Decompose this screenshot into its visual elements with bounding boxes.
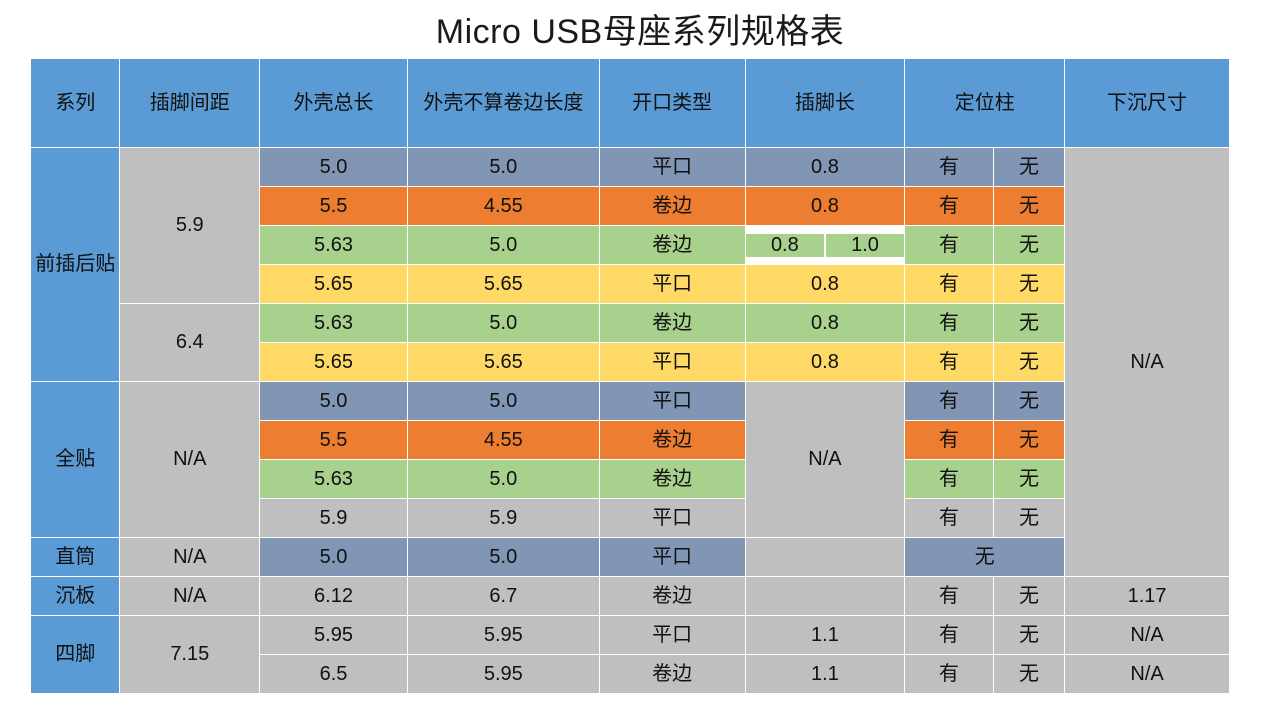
opening-type: 平口 — [600, 538, 745, 576]
post-no: 无 — [994, 460, 1064, 498]
shell-no-curl: 4.55 — [408, 187, 599, 225]
shell-no-curl: 5.0 — [408, 226, 599, 264]
post-merged-none: 无 — [905, 538, 1064, 576]
shell-total: 5.63 — [260, 304, 407, 342]
pin-length-b: 1.0 — [826, 234, 905, 257]
post-no: 无 — [994, 499, 1064, 537]
post-yes: 有 — [905, 187, 992, 225]
opening-type: 平口 — [600, 382, 745, 420]
pin-length-merged-na: N/A — [746, 382, 905, 537]
shell-no-curl: 5.65 — [408, 265, 599, 303]
shell-no-curl: 5.0 — [408, 148, 599, 186]
shell-total: 6.5 — [260, 655, 407, 693]
post-yes: 有 — [905, 343, 992, 381]
post-no: 无 — [994, 616, 1064, 654]
opening-type: 卷边 — [600, 187, 745, 225]
shell-no-curl: 4.55 — [408, 421, 599, 459]
header-shell-no-curl: 外壳不算卷边长度 — [408, 59, 599, 147]
shell-no-curl: 6.7 — [408, 577, 599, 615]
series-cell-chenban: 沉板 — [31, 577, 119, 615]
opening-type: 卷边 — [600, 577, 745, 615]
series-cell-quantie: 全贴 — [31, 382, 119, 537]
shell-no-curl: 5.0 — [408, 382, 599, 420]
pin-length-a: 0.8 — [746, 234, 825, 257]
pin-length: 1.1 — [746, 616, 905, 654]
series-cell-zhitong: 直筒 — [31, 538, 119, 576]
pitch-cell-5-9: 5.9 — [120, 148, 259, 303]
post-yes: 有 — [905, 265, 992, 303]
table-header-row: 系列 插脚间距 外壳总长 外壳不算卷边长度 开口类型 插脚长 定位柱 下沉尺寸 — [31, 59, 1229, 147]
header-opening-type: 开口类型 — [600, 59, 745, 147]
opening-type: 平口 — [600, 265, 745, 303]
pin-length: 1.1 — [746, 655, 905, 693]
shell-total: 5.95 — [260, 616, 407, 654]
pitch-cell-6-4: 6.4 — [120, 304, 259, 381]
shell-no-curl: 5.65 — [408, 343, 599, 381]
pitch-cell-na: N/A — [120, 577, 259, 615]
series-cell-sijiao: 四脚 — [31, 616, 119, 693]
shell-total: 5.9 — [260, 499, 407, 537]
shell-total: 6.12 — [260, 577, 407, 615]
post-yes: 有 — [905, 382, 992, 420]
post-yes: 有 — [905, 460, 992, 498]
table-row: 全贴 N/A 5.0 5.0 平口 N/A 有 无 — [31, 382, 1229, 420]
slide-page: Micro USB母座系列规格表 系列 插脚间距 外壳总长 外壳不算卷边长度 开… — [0, 0, 1280, 720]
opening-type: 卷边 — [600, 655, 745, 693]
post-no: 无 — [994, 382, 1064, 420]
post-no: 无 — [994, 304, 1064, 342]
header-locating-post: 定位柱 — [905, 59, 1064, 147]
pin-length: 0.8 — [746, 304, 905, 342]
page-title: Micro USB母座系列规格表 — [0, 4, 1280, 53]
table-row: 6.4 5.63 5.0 卷边 0.8 有 无 — [31, 304, 1229, 342]
opening-type: 平口 — [600, 499, 745, 537]
table-row: 前插后贴 5.9 5.0 5.0 平口 0.8 有 无 N/A — [31, 148, 1229, 186]
post-no: 无 — [994, 655, 1064, 693]
pin-length: 0.8 — [746, 148, 905, 186]
opening-type: 卷边 — [600, 460, 745, 498]
post-yes: 有 — [905, 616, 992, 654]
shell-total: 5.0 — [260, 382, 407, 420]
pin-length-empty — [746, 577, 905, 615]
shell-total: 5.63 — [260, 460, 407, 498]
opening-type: 卷边 — [600, 421, 745, 459]
table-row: 直筒 N/A 5.0 5.0 平口 无 — [31, 538, 1229, 576]
pitch-cell-na: N/A — [120, 382, 259, 537]
shell-no-curl: 5.9 — [408, 499, 599, 537]
sink-size: N/A — [1065, 616, 1229, 654]
pitch-cell-7-15: 7.15 — [120, 616, 259, 693]
pin-length: 0.8 — [746, 343, 905, 381]
shell-total: 5.5 — [260, 187, 407, 225]
shell-no-curl: 5.0 — [408, 304, 599, 342]
opening-type: 平口 — [600, 616, 745, 654]
post-yes: 有 — [905, 421, 992, 459]
post-no: 无 — [994, 343, 1064, 381]
shell-total: 5.0 — [260, 538, 407, 576]
post-yes: 有 — [905, 655, 992, 693]
shell-total: 5.0 — [260, 148, 407, 186]
header-sink-size: 下沉尺寸 — [1065, 59, 1229, 147]
post-yes: 有 — [905, 148, 992, 186]
post-no: 无 — [994, 187, 1064, 225]
table-row: 沉板 N/A 6.12 6.7 卷边 有 无 1.17 — [31, 577, 1229, 615]
opening-type: 卷边 — [600, 226, 745, 264]
post-no: 无 — [994, 148, 1064, 186]
header-series: 系列 — [31, 59, 119, 147]
post-no: 无 — [994, 577, 1064, 615]
post-yes: 有 — [905, 577, 992, 615]
post-no: 无 — [994, 226, 1064, 264]
post-yes: 有 — [905, 226, 992, 264]
spec-table: 系列 插脚间距 外壳总长 外壳不算卷边长度 开口类型 插脚长 定位柱 下沉尺寸 … — [30, 58, 1230, 694]
pin-length: 0.8 — [746, 187, 905, 225]
shell-total: 5.65 — [260, 265, 407, 303]
shell-total: 5.65 — [260, 343, 407, 381]
table-row: 四脚 7.15 5.95 5.95 平口 1.1 有 无 N/A — [31, 616, 1229, 654]
opening-type: 卷边 — [600, 304, 745, 342]
pin-length: 0.8 — [746, 265, 905, 303]
sink-size-merged: N/A — [1065, 148, 1229, 576]
shell-total: 5.5 — [260, 421, 407, 459]
shell-no-curl: 5.95 — [408, 655, 599, 693]
pin-length-empty — [746, 538, 905, 576]
post-yes: 有 — [905, 304, 992, 342]
pin-length-split: 0.8 1.0 — [746, 226, 905, 264]
shell-total: 5.63 — [260, 226, 407, 264]
shell-no-curl: 5.95 — [408, 616, 599, 654]
shell-no-curl: 5.0 — [408, 460, 599, 498]
opening-type: 平口 — [600, 343, 745, 381]
header-pin-pitch: 插脚间距 — [120, 59, 259, 147]
sink-size: 1.17 — [1065, 577, 1229, 615]
series-cell-qianchahoutie: 前插后贴 — [31, 148, 119, 381]
header-pin-length: 插脚长 — [746, 59, 905, 147]
post-no: 无 — [994, 265, 1064, 303]
header-shell-total: 外壳总长 — [260, 59, 407, 147]
shell-no-curl: 5.0 — [408, 538, 599, 576]
pitch-cell-na: N/A — [120, 538, 259, 576]
sink-size: N/A — [1065, 655, 1229, 693]
post-no: 无 — [994, 421, 1064, 459]
post-yes: 有 — [905, 499, 992, 537]
opening-type: 平口 — [600, 148, 745, 186]
